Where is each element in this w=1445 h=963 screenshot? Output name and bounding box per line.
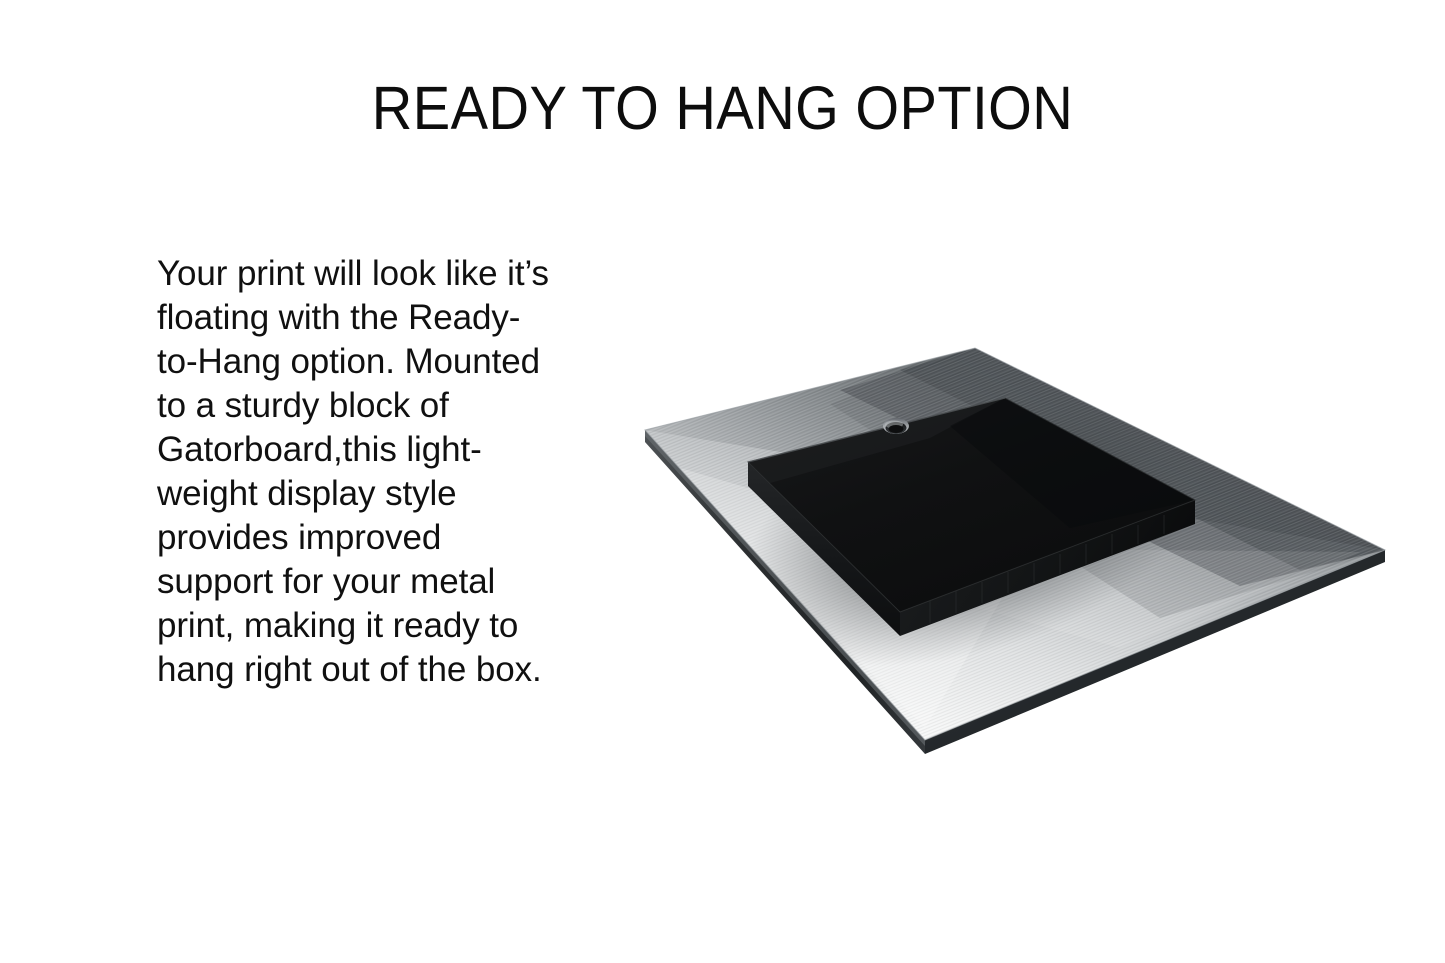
slide-canvas: READY TO HANG OPTION Your print will loo… bbox=[0, 0, 1445, 963]
hanger-hole-icon bbox=[883, 418, 909, 434]
page-title: READY TO HANG OPTION bbox=[58, 78, 1387, 139]
body-paragraph: Your print will look like it’s floating … bbox=[157, 252, 557, 692]
product-illustration bbox=[600, 318, 1430, 788]
